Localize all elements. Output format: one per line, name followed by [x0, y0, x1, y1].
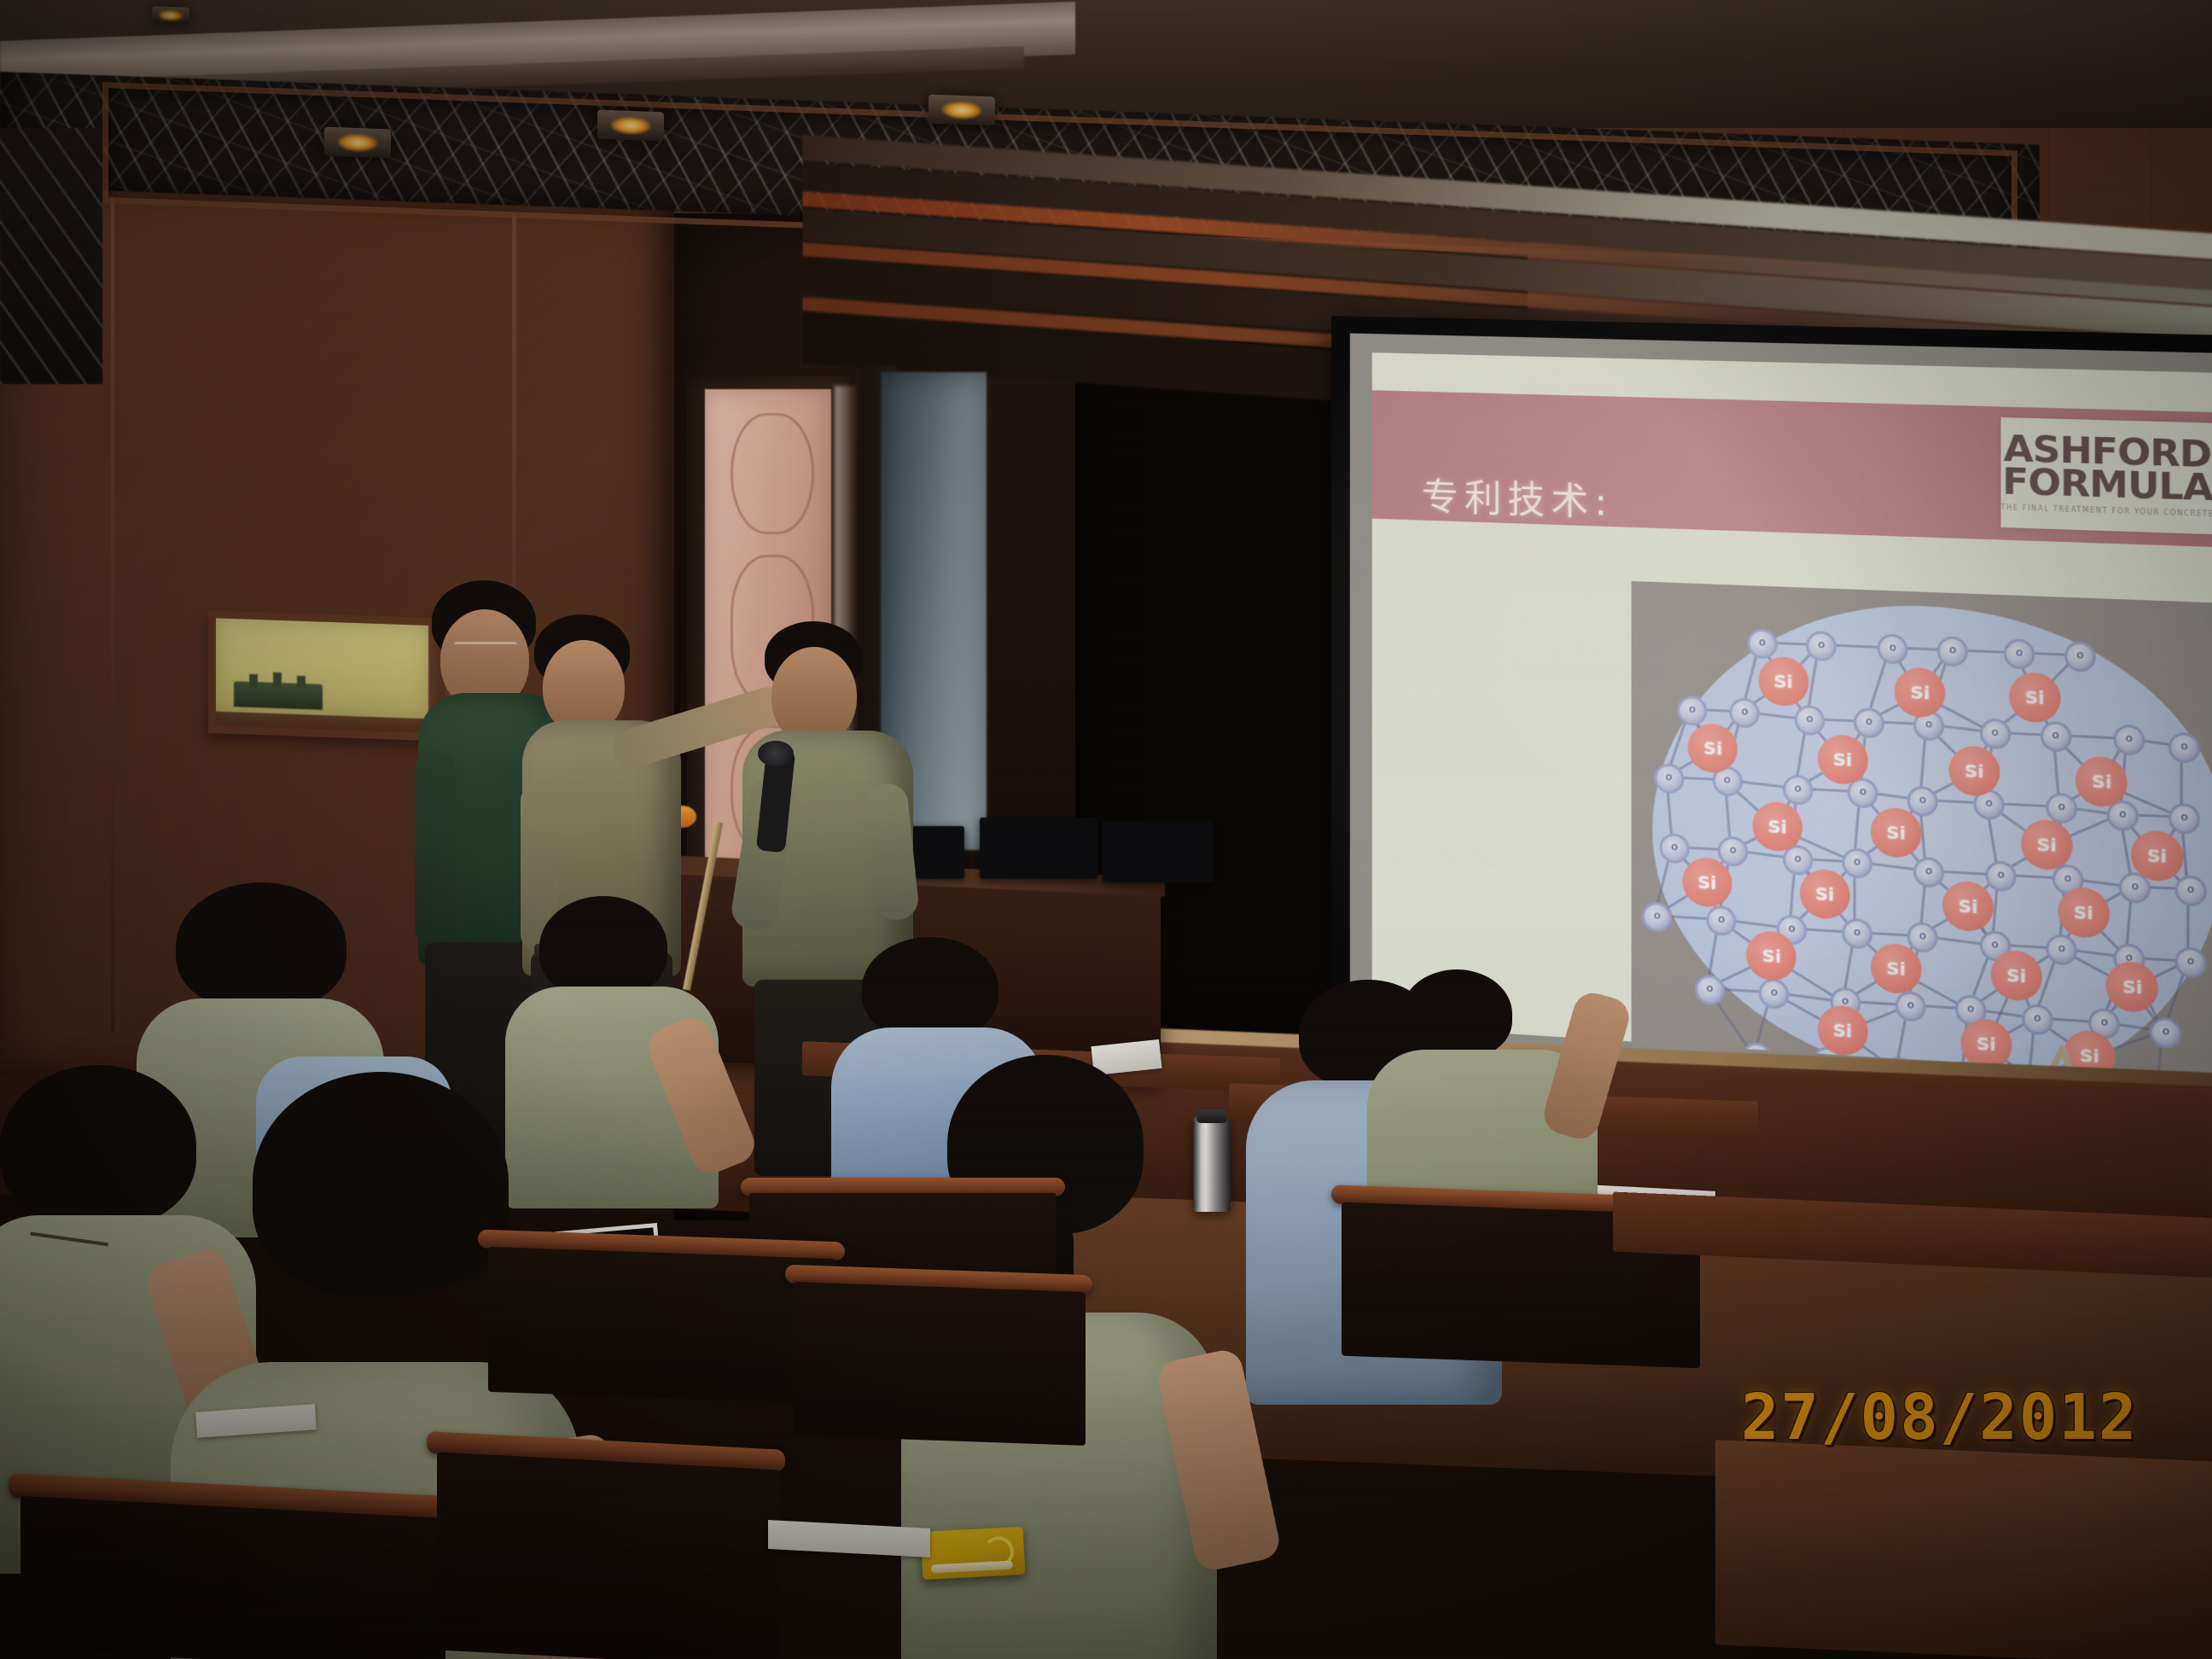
wall-seam — [111, 196, 114, 1033]
ceiling-downlight-icon — [152, 6, 189, 25]
laptop[interactable] — [1103, 821, 1214, 882]
ceiling-downlight-icon — [928, 95, 995, 126]
door-panel-moulding — [731, 413, 814, 534]
yellow-notebook[interactable] — [921, 1527, 1026, 1580]
oxygen-atom: O — [1747, 628, 1778, 659]
alcove-display-object — [249, 674, 258, 688]
slide-title: 专利技术: — [1422, 467, 1614, 527]
ceiling-downlight-icon — [324, 127, 391, 159]
silica-lattice-diagram: OOOOOOOOOOOOOOOOOOOOOOOOOOOOOOOOOOOOOOOO… — [1632, 581, 2212, 1080]
alcove-display-object — [273, 672, 282, 688]
oxygen-atom: O — [2064, 641, 2096, 672]
desk-right-front — [1715, 1440, 2212, 1659]
camera-date-stamp: 27/08/2012 — [1741, 1381, 2139, 1454]
oxygen-atom: O — [2150, 1016, 2181, 1049]
bench-backrest — [488, 1247, 836, 1404]
bench-backrest-front — [437, 1452, 780, 1659]
ashford-formula-logo: ASHFORD FORMULA THE FINAL TREATMENT FOR … — [2001, 417, 2212, 534]
conference-photo: 专利技术: ASHFORD FORMULA THE FINAL TREATMEN… — [0, 0, 2212, 1659]
bench-backrest — [794, 1282, 1086, 1446]
oxygen-atom: O — [2168, 731, 2200, 763]
ceiling-downlight-icon — [597, 110, 664, 142]
alcove-display-object — [297, 676, 306, 688]
bench-backrest-front — [20, 1496, 445, 1659]
laptop[interactable] — [980, 818, 1097, 879]
thermos-flask — [1193, 1116, 1231, 1212]
logo-line-2: FORMULA — [2002, 466, 2212, 505]
microphone-head-icon — [758, 741, 794, 766]
wall-alcove-frame — [208, 610, 452, 742]
eyeglasses-icon — [454, 642, 517, 656]
slide-header-band: 专利技术: ASHFORD FORMULA THE FINAL TREATMEN… — [1372, 390, 2212, 547]
presentation-slide: 专利技术: ASHFORD FORMULA THE FINAL TREATMEN… — [1372, 352, 2212, 1080]
marble-left-column — [0, 128, 102, 384]
